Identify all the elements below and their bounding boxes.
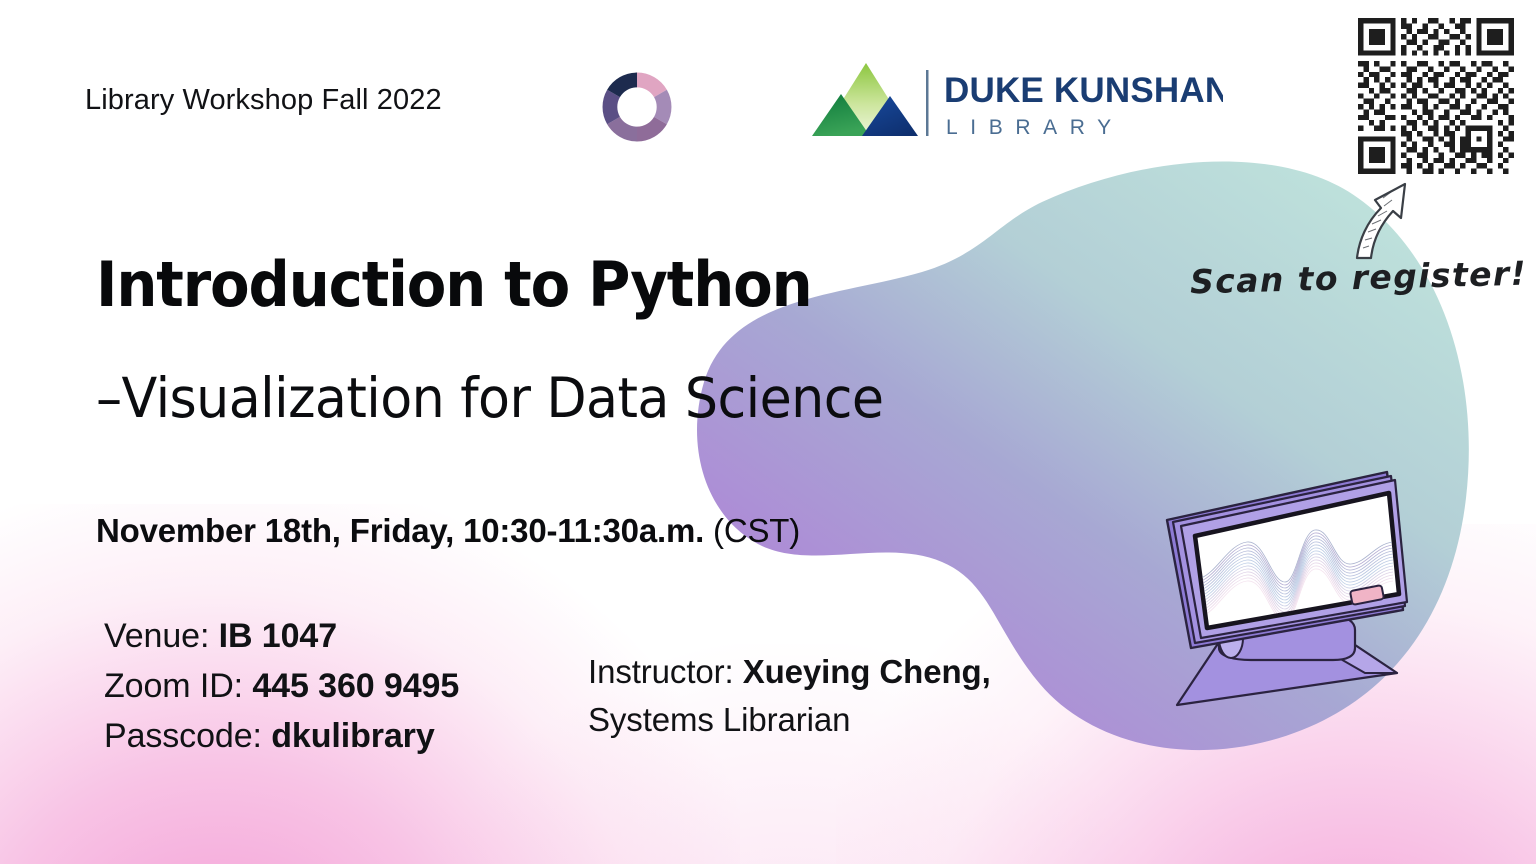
- detail-label-zoom-id: Zoom ID:: [104, 667, 243, 705]
- page-kicker: Library Workshop Fall 2022: [85, 84, 442, 117]
- page-title: Introduction to Python: [96, 248, 812, 321]
- arrow-up-right-icon: [1345, 178, 1445, 263]
- computer-monitor-illustration: [1155, 460, 1445, 740]
- detail-value-zoom-id: 445 360 9495: [252, 667, 459, 705]
- page-subtitle: –Visualization for Data Science: [96, 366, 883, 430]
- instructor-name: Xueying Cheng,: [743, 653, 991, 690]
- qr-code-image[interactable]: [1358, 18, 1514, 174]
- instructor-label: Instructor:: [588, 653, 734, 690]
- event-timezone: (CST): [713, 512, 800, 549]
- duke-kunshan-library-logo: DUKE KUNSHAN LIBRARY: [808, 58, 1223, 150]
- detail-value-passcode: dkulibrary: [271, 717, 434, 755]
- detail-label-venue: Venue:: [104, 617, 209, 655]
- svg-text:DUKE KUNSHAN: DUKE KUNSHAN: [944, 71, 1223, 110]
- event-datetime-main: November 18th, Friday, 10:30-11:30a.m.: [96, 512, 704, 549]
- detail-row-passcode: Passcode: dkulibrary: [104, 712, 459, 762]
- poster-canvas: Library Workshop Fall 2022: [0, 0, 1536, 864]
- detail-value-venue: IB 1047: [219, 617, 337, 655]
- svg-text:LIBRARY: LIBRARY: [946, 116, 1124, 139]
- instructor-block: Instructor: Xueying Cheng, Systems Libra…: [588, 648, 991, 744]
- event-datetime: November 18th, Friday, 10:30-11:30a.m. (…: [96, 512, 800, 550]
- donut-logo-icon: [596, 66, 678, 148]
- qr-code[interactable]: [1358, 18, 1514, 174]
- instructor-role: Systems Librarian: [588, 701, 850, 738]
- detail-row-zoom-id: Zoom ID: 445 360 9495: [104, 662, 459, 712]
- detail-row-venue: Venue: IB 1047: [104, 612, 459, 662]
- detail-label-passcode: Passcode:: [104, 717, 262, 755]
- event-details: Venue: IB 1047 Zoom ID: 445 360 9495 Pas…: [104, 612, 459, 762]
